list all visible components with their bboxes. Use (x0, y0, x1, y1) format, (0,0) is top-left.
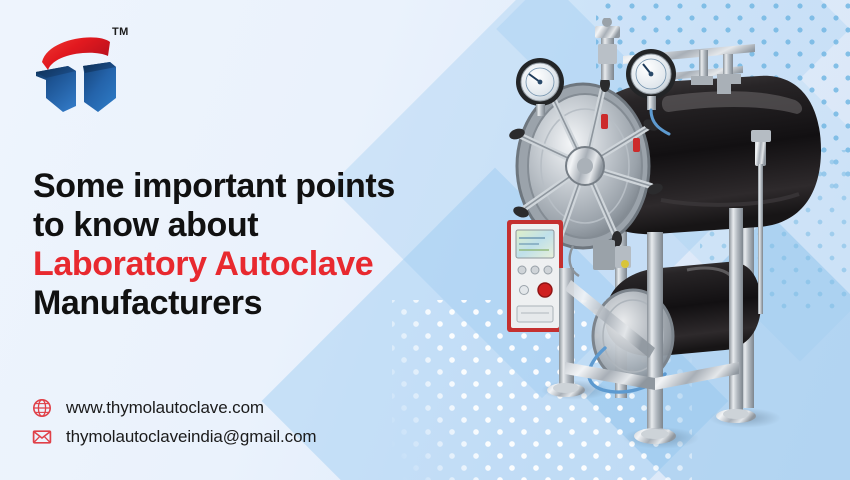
marketing-banner: TM Some important points to know about L… (0, 0, 850, 480)
product-image (455, 18, 845, 470)
website-url[interactable]: www.thymolautoclave.com (66, 398, 264, 418)
logo-mark-icon (28, 22, 124, 114)
headline-line-2: to know about (33, 206, 503, 245)
headline-line-1: Some important points (33, 167, 503, 206)
brand-logo[interactable]: TM (28, 22, 138, 114)
envelope-icon (31, 426, 53, 448)
headline-line-4: Manufacturers (33, 284, 503, 323)
website-row[interactable]: www.thymolautoclave.com (31, 393, 316, 422)
contact-info: www.thymolautoclave.com thymolautoclavei… (31, 393, 316, 451)
globe-icon (31, 397, 53, 419)
email-address[interactable]: thymolautoclaveindia@gmail.com (66, 427, 316, 447)
page-title: Some important points to know about Labo… (33, 167, 503, 323)
trademark-symbol: TM (112, 26, 129, 38)
control-panel (507, 220, 563, 332)
email-row[interactable]: thymolautoclaveindia@gmail.com (31, 422, 316, 451)
headline-line-3-highlight: Laboratory Autoclave (33, 245, 503, 284)
